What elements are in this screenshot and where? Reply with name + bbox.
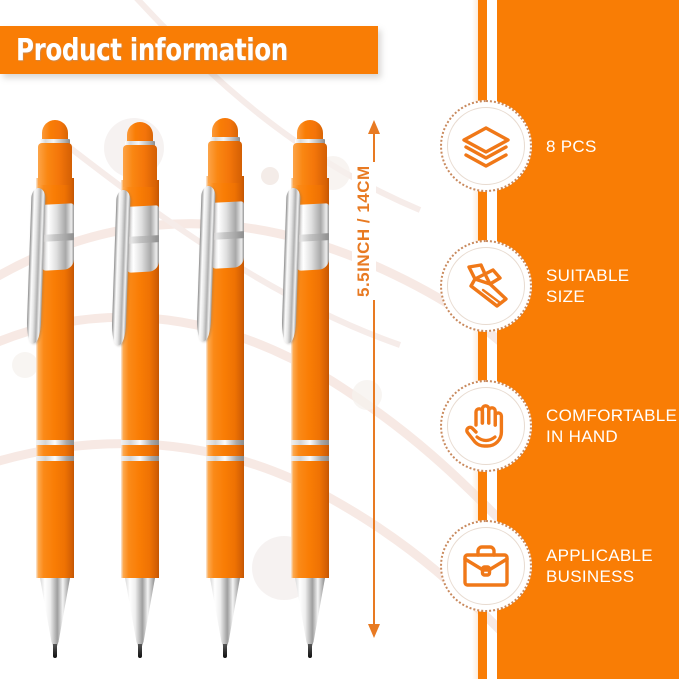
feature-label: SUITABLE SIZE [546, 265, 629, 307]
pen-nib [138, 644, 142, 658]
feature-icon-circle [440, 520, 532, 612]
title-banner: Product information [0, 26, 378, 74]
feature-item-1[interactable]: 8 PCS [440, 98, 679, 194]
feature-item-4[interactable]: APPLICABLE BUSINESS [440, 518, 679, 614]
pen-plunger [293, 143, 327, 185]
pen-band [36, 456, 74, 461]
pen-band [36, 440, 74, 445]
pen-collar [212, 201, 244, 269]
briefcase-icon [459, 539, 513, 593]
pen-band [291, 456, 329, 461]
pen-1 [28, 120, 84, 662]
feature-item-2[interactable]: SUITABLE SIZE [440, 238, 679, 334]
pen-metal-tip [125, 578, 155, 652]
feature-icon-circle [440, 240, 532, 332]
pen-metal-tip [295, 578, 325, 652]
pen-band [291, 440, 329, 445]
feature-icon-circle [440, 380, 532, 472]
feature-icon-circle [440, 100, 532, 192]
pen-plunger [123, 145, 157, 187]
feature-label: APPLICABLE BUSINESS [546, 545, 653, 587]
dimension-label: 5.5INCH / 14CM [352, 162, 376, 300]
pen-nib [223, 644, 227, 658]
hand-icon [459, 399, 513, 453]
pen-nib [53, 644, 57, 658]
pen-collar [127, 205, 159, 273]
pen-3 [198, 118, 254, 662]
pen-2 [113, 122, 169, 662]
pen-collar [42, 203, 74, 271]
pen-band [206, 440, 244, 445]
page-title: Product information [16, 33, 288, 68]
feature-label: 8 PCS [546, 136, 597, 157]
pen-collar [297, 203, 329, 271]
feature-label: COMFORTABLE IN HAND [546, 405, 677, 447]
pen-band [121, 440, 159, 445]
product-information-infographic: Product information 5.5INCH / 14CM 8 PCS… [0, 0, 679, 679]
pen-metal-tip [210, 578, 240, 652]
pen-band [121, 456, 159, 461]
pen-nib [308, 644, 312, 658]
feature-item-3[interactable]: COMFORTABLE IN HAND [440, 378, 679, 474]
layers-icon [459, 119, 513, 173]
necktie-icon [459, 259, 513, 313]
pen-4 [283, 120, 339, 662]
pen-plunger [38, 143, 72, 185]
pen-metal-tip [40, 578, 70, 652]
pen-band [206, 456, 244, 461]
pen-plunger [208, 141, 242, 183]
